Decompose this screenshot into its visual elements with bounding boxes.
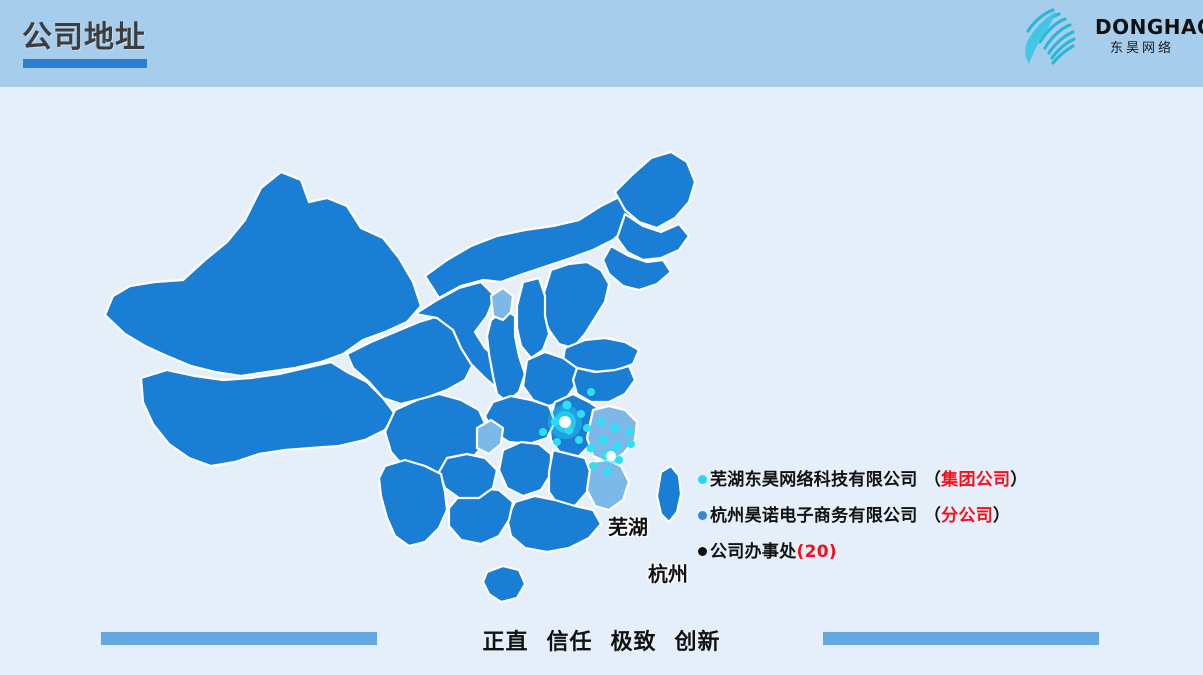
branch-marker bbox=[602, 447, 620, 465]
province-hainan bbox=[483, 566, 525, 602]
legend: 芜湖东昊网络科技有限公司 （集团公司） 杭州昊诺电子商务有限公司 （分公司） 公… bbox=[698, 462, 1028, 570]
legend-bullet-icon bbox=[698, 547, 707, 556]
legend-company-name: 杭州昊诺电子商务有限公司 bbox=[710, 506, 918, 526]
legend-tag-text: 分公司 bbox=[941, 506, 993, 526]
slide-header: 公司地址 DONGHAO bbox=[0, 0, 1203, 87]
province-jiangsu bbox=[573, 366, 635, 402]
legend-tag-close: ） bbox=[1010, 470, 1027, 490]
title-underline bbox=[23, 59, 147, 68]
legend-item-branch-company: 杭州昊诺电子商务有限公司 （分公司） bbox=[698, 498, 1028, 534]
headquarters-marker bbox=[548, 405, 582, 439]
legend-company-name: 芜湖东昊网络科技有限公司 bbox=[710, 470, 918, 490]
legend-bullet-icon bbox=[698, 511, 707, 520]
legend-tag-text: 集团公司 bbox=[941, 470, 1010, 490]
province-hunan bbox=[499, 442, 551, 496]
footer-slogan: 正直信任极致创新 bbox=[0, 624, 1203, 656]
slogan-word-3: 极致 bbox=[611, 630, 657, 655]
logo-text: DONGHAO 东昊网络 bbox=[1095, 16, 1189, 58]
legend-tag-close: ） bbox=[993, 506, 1010, 526]
province-guangdong bbox=[507, 496, 601, 552]
legend-company-name: 公司办事处 bbox=[710, 542, 797, 562]
province-yunnan bbox=[379, 460, 447, 546]
province-tibet bbox=[141, 362, 395, 466]
legend-tag: （集团公司） bbox=[918, 470, 1028, 490]
legend-item-offices: 公司办事处(20) bbox=[698, 534, 1028, 570]
slogan-word-1: 正直 bbox=[482, 630, 528, 655]
legend-tag: （分公司） bbox=[918, 506, 1011, 526]
legend-tag-open: （ bbox=[918, 506, 942, 526]
china-map: 芜湖 杭州 bbox=[95, 110, 705, 610]
legend-bullet-icon bbox=[698, 475, 707, 484]
legend-tag-text: (20) bbox=[797, 542, 837, 562]
legend-tag-open: （ bbox=[918, 470, 942, 490]
province-chongqing bbox=[477, 420, 503, 454]
province-jiangxi bbox=[549, 450, 591, 506]
province-guizhou bbox=[439, 454, 497, 498]
slogan-word-4: 创新 bbox=[675, 630, 721, 655]
page-title: 公司地址 bbox=[22, 20, 146, 56]
legend-item-group-company: 芜湖东昊网络科技有限公司 （集团公司） bbox=[698, 462, 1028, 498]
slogan-word-2: 信任 bbox=[546, 630, 592, 655]
slide-company-address: 公司地址 DONGHAO bbox=[0, 0, 1203, 675]
legend-tag: (20) bbox=[797, 542, 837, 562]
province-taiwan bbox=[657, 466, 681, 522]
logo-name-cn: 东昊网络 bbox=[1095, 40, 1189, 58]
city-label-hangzhou: 杭州 bbox=[648, 558, 688, 587]
logo-name-en: DONGHAO bbox=[1095, 16, 1189, 38]
city-label-wuhu: 芜湖 bbox=[608, 511, 648, 540]
province-hebei bbox=[543, 262, 609, 348]
feather-wing-icon bbox=[1023, 8, 1093, 68]
company-logo: DONGHAO 东昊网络 bbox=[1023, 8, 1189, 70]
